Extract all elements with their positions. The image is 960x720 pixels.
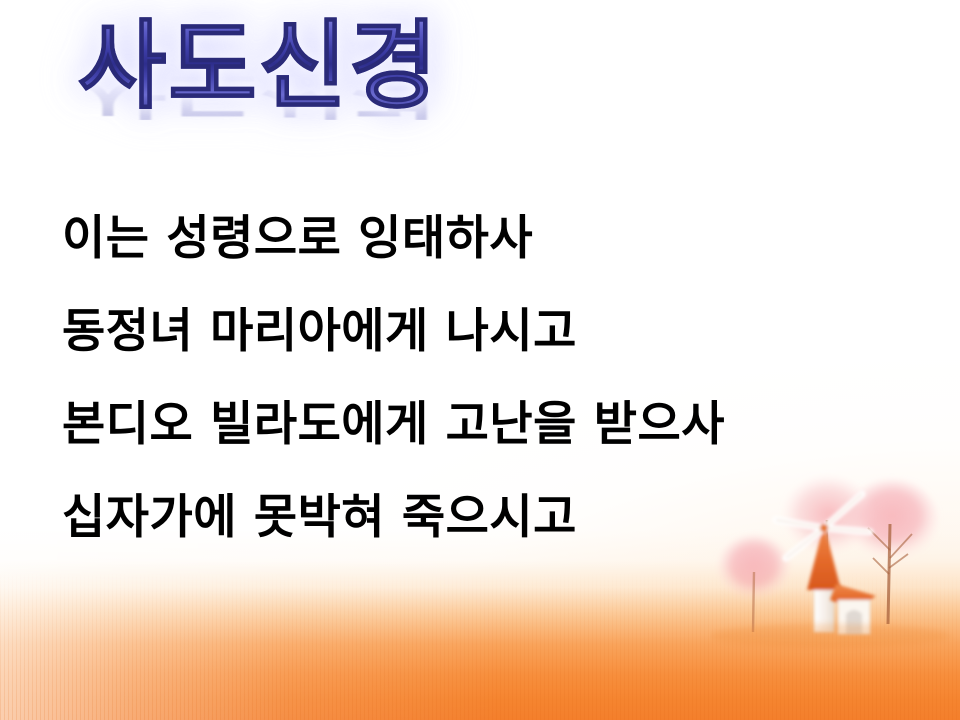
- title-wordart: 사도신경 사도신경: [78, 18, 508, 183]
- creed-text-block: 이는 성령으로 잉태하사 동정녀 마리아에게 나시고 본디오 빌라도에게 고난을…: [62, 192, 922, 564]
- background-grass-texture: [0, 570, 960, 720]
- creed-line-4: 십자가에 못박혀 죽으시고: [62, 471, 922, 564]
- page-title: 사도신경: [78, 18, 439, 114]
- creed-line-2: 동정녀 마리아에게 나시고: [62, 285, 922, 378]
- creed-line-1: 이는 성령으로 잉태하사: [62, 192, 922, 285]
- creed-line-3: 본디오 빌라도에게 고난을 받으사: [62, 378, 922, 471]
- slide-canvas: 사도신경 사도신경 이는 성령으로 잉태하사 동정녀 마리아에게 나시고 본디오…: [0, 0, 960, 720]
